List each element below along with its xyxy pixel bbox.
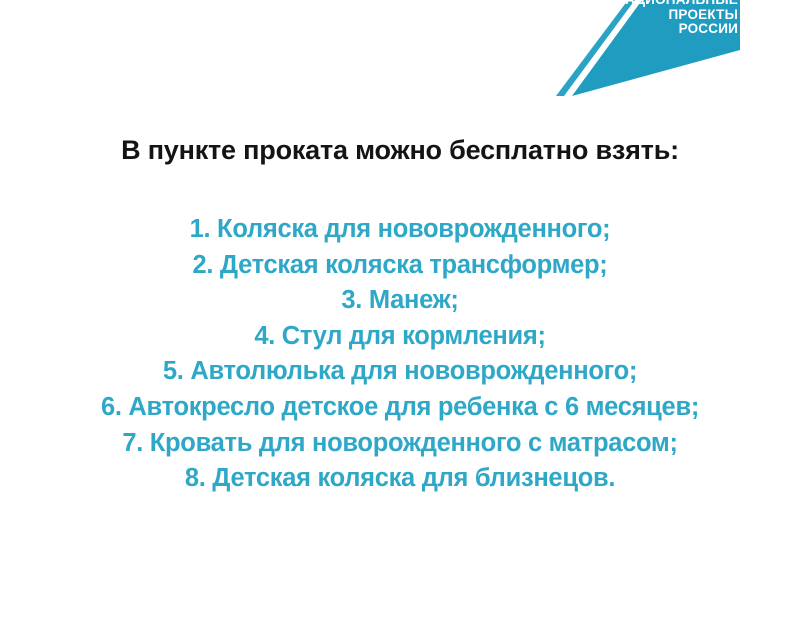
list-item: 7. Кровать для новорожденного с матрасом… <box>0 426 800 462</box>
list-item: 2. Детская коляска трансформер; <box>0 248 800 284</box>
national-projects-russia-logo: НАЦИОНАЛЬНЫЕ ПРОЕКТЫ РОССИИ <box>540 0 800 96</box>
page-title: В пункте проката можно бесплатно взять: <box>0 133 800 167</box>
logo-line-3: РОССИИ <box>602 22 738 37</box>
logo-line-2: ПРОЕКТЫ <box>602 8 738 23</box>
list-item: 8. Детская коляска для близнецов. <box>0 461 800 497</box>
list-item: 4. Стул для кормления; <box>0 319 800 355</box>
list-item: 5. Автолюлька для нововрожденного; <box>0 354 800 390</box>
list-item: 1. Коляска для нововрожденного; <box>0 212 800 248</box>
list-item: 6. Автокресло детское для ребенка с 6 ме… <box>0 390 800 426</box>
list-item: 3. Манеж; <box>0 283 800 319</box>
rental-items-list: 1. Коляска для нововрожденного; 2. Детск… <box>0 212 800 497</box>
logo-wordmark: НАЦИОНАЛЬНЫЕ ПРОЕКТЫ РОССИИ <box>602 0 738 37</box>
